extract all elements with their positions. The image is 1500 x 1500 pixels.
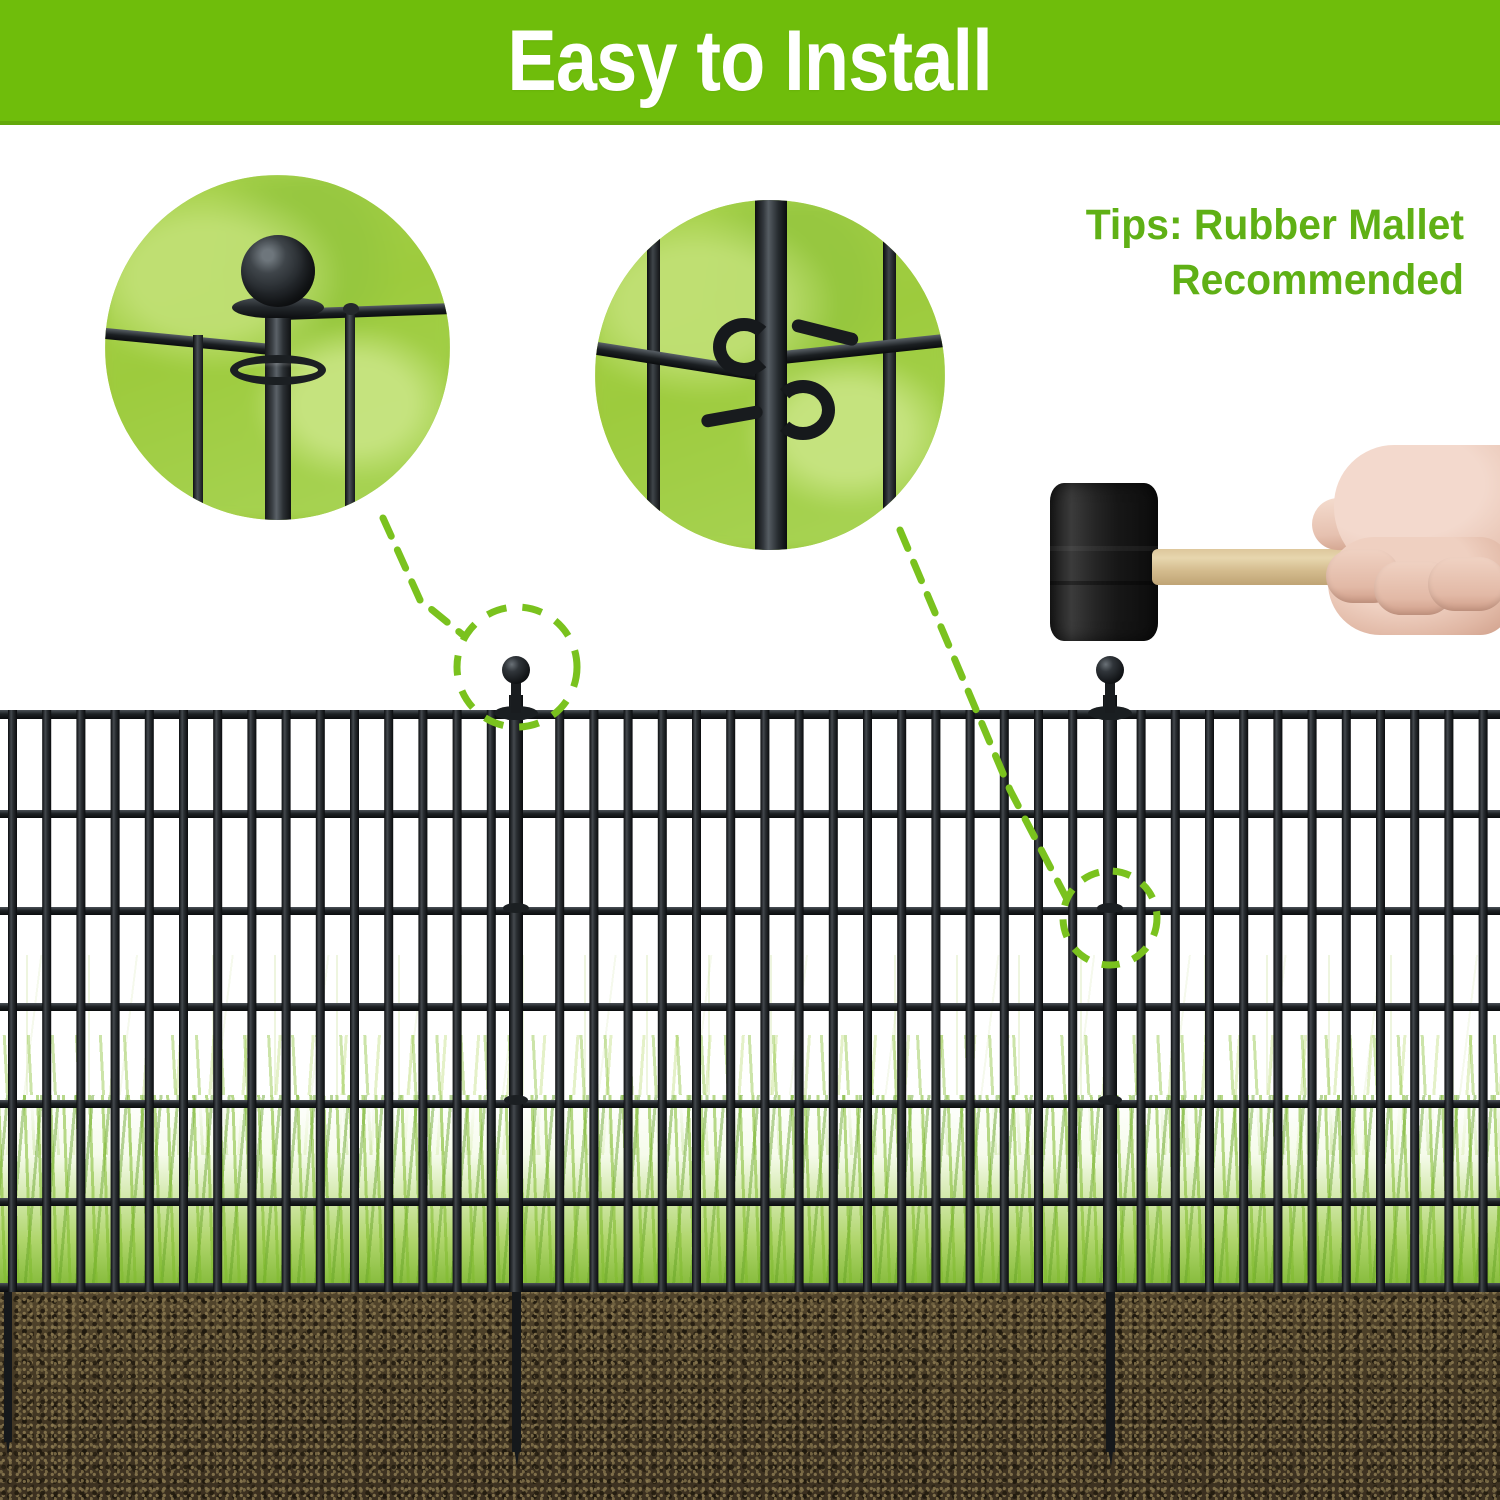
- fence-picket: [795, 710, 804, 1292]
- fence-picket: [384, 710, 393, 1292]
- fence-picket: [213, 710, 222, 1292]
- fence-picket: [1239, 710, 1248, 1292]
- fence-picket: [1205, 710, 1214, 1292]
- fence-picket: [624, 710, 633, 1292]
- fence-picket: [555, 710, 564, 1292]
- s-hook-lower-loop: [771, 380, 835, 440]
- finger-ring: [1428, 557, 1500, 611]
- fence-picket: [1410, 710, 1419, 1292]
- fence-picket: [1171, 710, 1180, 1292]
- finial-vertical-bar-right: [345, 311, 355, 520]
- mallet-icon: [1050, 483, 1158, 641]
- fence-picket: [145, 710, 154, 1292]
- fence-picket: [589, 710, 598, 1292]
- finial-rail-node: [343, 303, 359, 315]
- fence-picket: [282, 710, 291, 1292]
- tips-text: Tips: Rubber Mallet Recommended: [875, 198, 1464, 308]
- callout-circle-post-finial: [105, 175, 450, 520]
- infographic-canvas: Easy to Install Tips: Rubber Mallet Reco…: [0, 0, 1500, 1500]
- fence-picket: [453, 710, 462, 1292]
- fence-picket: [179, 710, 188, 1292]
- fence-panels: [0, 655, 1500, 1500]
- fence-picket: [1342, 710, 1351, 1292]
- hook-vertical-bar-right: [883, 230, 896, 550]
- finial-retaining-ring: [230, 355, 326, 385]
- fence-picket: [863, 710, 872, 1292]
- fence-picket: [418, 710, 427, 1292]
- fence-post-right: [1088, 656, 1132, 1467]
- fence-picket: [487, 710, 496, 1292]
- fence-stake-left: [4, 1292, 12, 1455]
- fence-picket: [1376, 710, 1385, 1292]
- s-hook-icon: [713, 318, 775, 376]
- fence-picket: [760, 710, 769, 1292]
- page-title: Easy to Install: [508, 18, 992, 104]
- fence-picket: [829, 710, 838, 1292]
- fence-picket: [897, 710, 906, 1292]
- hand-holding-mallet: [1308, 445, 1500, 635]
- fence-picket: [76, 710, 85, 1292]
- fence-picket: [247, 710, 256, 1292]
- fence-picket: [111, 710, 120, 1292]
- fence-scene: [0, 655, 1500, 1500]
- hook-post: [755, 200, 787, 550]
- header-banner: Easy to Install: [0, 0, 1500, 125]
- fence-picket: [726, 710, 735, 1292]
- callout-circle-wire-hook: [595, 200, 945, 550]
- ball-finial-icon: [241, 235, 315, 307]
- fence-post-left: [494, 656, 538, 1467]
- tips-line-2: Recommended: [875, 253, 1464, 308]
- fence-picket: [1000, 710, 1009, 1292]
- fence-picket: [350, 710, 359, 1292]
- fence-picket: [1137, 710, 1146, 1292]
- tips-line-1: Tips: Rubber Mallet: [875, 198, 1464, 253]
- fence-picket: [1479, 710, 1488, 1292]
- fence-picket: [658, 710, 667, 1292]
- fence-picket: [1308, 710, 1317, 1292]
- fence-picket: [966, 710, 975, 1292]
- leader-line-finial: [383, 518, 463, 635]
- finial-vertical-bar-left: [193, 335, 203, 520]
- fence-picket: [692, 710, 701, 1292]
- fence-picket: [1068, 710, 1077, 1292]
- fence-picket: [8, 710, 17, 1292]
- hook-vertical-bar-left: [647, 238, 660, 550]
- fence-picket: [42, 710, 51, 1292]
- fence-picket: [931, 710, 940, 1292]
- fence-picket: [1444, 710, 1453, 1292]
- fence-picket: [316, 710, 325, 1292]
- mallet-illustration: [1040, 455, 1500, 655]
- fence-picket: [1273, 710, 1282, 1292]
- fence-picket: [1034, 710, 1043, 1292]
